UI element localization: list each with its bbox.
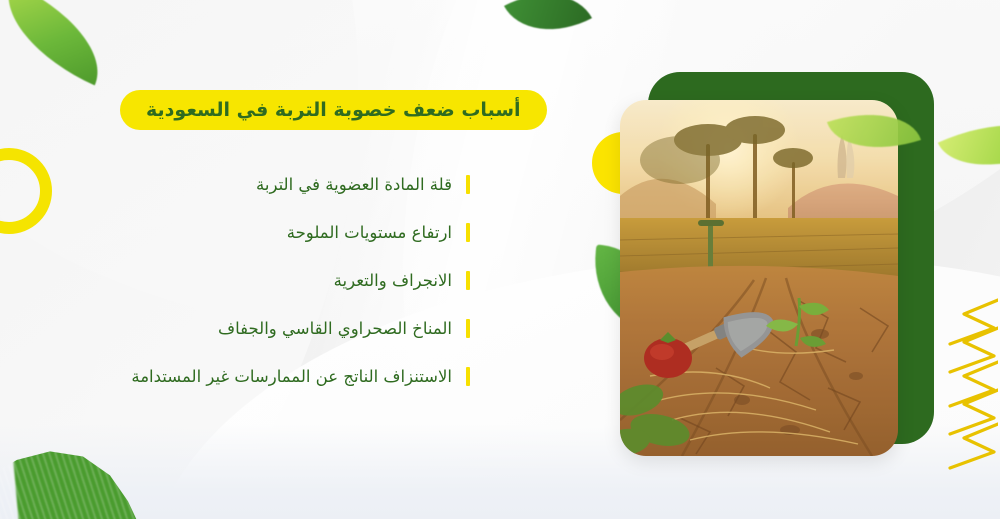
list-item-label: قلة المادة العضوية في التربة	[256, 175, 452, 194]
list-item: الانجراف والتعرية	[70, 256, 470, 304]
bullet-marker-icon	[466, 319, 470, 338]
list-item: ارتفاع مستويات الملوحة	[70, 208, 470, 256]
causes-list: قلة المادة العضوية في التربة ارتفاع مستو…	[70, 160, 470, 400]
list-item-label: المناخ الصحراوي القاسي والجفاف	[218, 319, 452, 338]
list-item: قلة المادة العضوية في التربة	[70, 160, 470, 208]
list-item-label: الاستنزاف الناتج عن الممارسات غير المستد…	[131, 367, 452, 386]
bullet-marker-icon	[466, 223, 470, 242]
page-title-text: أسباب ضعف خصوبة التربة في السعودية	[146, 99, 521, 121]
bullet-marker-icon	[466, 175, 470, 194]
list-item-label: ارتفاع مستويات الملوحة	[287, 223, 452, 242]
infographic-canvas: أسباب ضعف خصوبة التربة في السعودية قلة ا…	[0, 0, 1000, 519]
list-item: الاستنزاف الناتج عن الممارسات غير المستد…	[70, 352, 470, 400]
list-item-label: الانجراف والتعرية	[334, 271, 452, 290]
page-title: أسباب ضعف خصوبة التربة في السعودية	[120, 90, 547, 130]
bullet-marker-icon	[466, 367, 470, 386]
bullet-marker-icon	[466, 271, 470, 290]
list-item: المناخ الصحراوي القاسي والجفاف	[70, 304, 470, 352]
